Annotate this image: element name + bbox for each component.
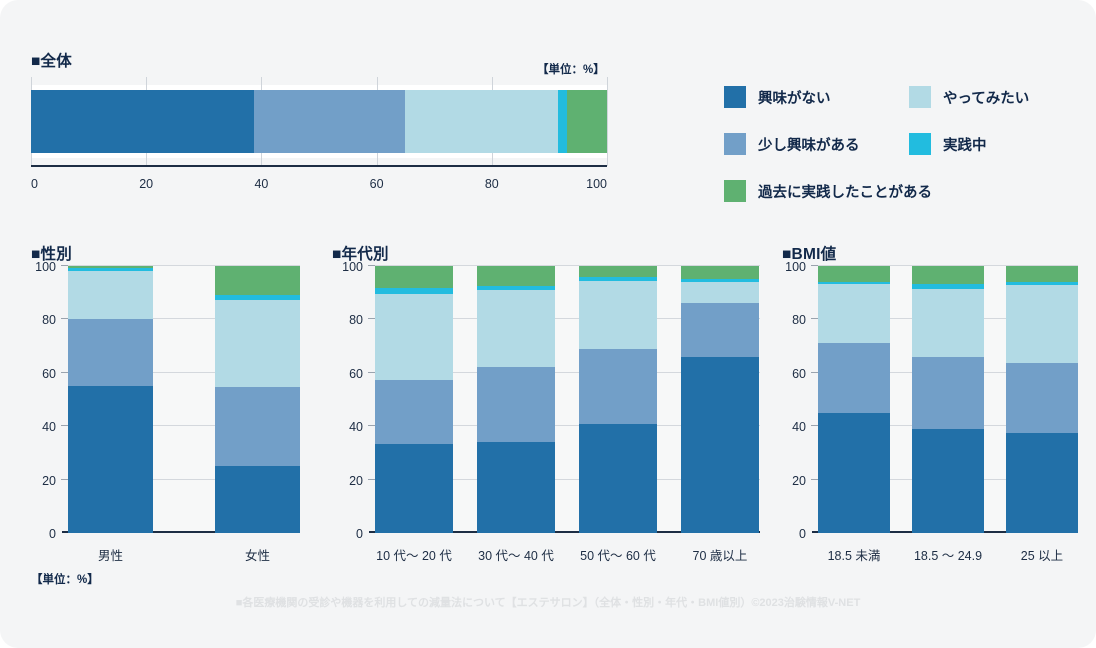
- y-tick-mark: [811, 425, 818, 426]
- x-category-label: 18.5 〜 24.9: [912, 545, 984, 564]
- footer-caption: ■各医療機関の受診や機器を利用しての減量法について【エステサロン】（全体・性別・…: [0, 594, 1096, 610]
- column-segment: [681, 357, 759, 533]
- overall-bar-segment: [405, 90, 558, 153]
- overall-plot-area: [31, 85, 607, 158]
- column-bar: [912, 266, 984, 533]
- overall-bar-segment: [254, 90, 405, 153]
- y-tick-label: 80: [792, 313, 806, 327]
- y-tick-label: 0: [49, 527, 56, 541]
- chart-age: 10080604020010 代〜 20 代30 代〜 40 代50 代〜 60…: [375, 266, 760, 533]
- x-category-label: 10 代〜 20 代: [375, 545, 453, 564]
- column-segment: [68, 319, 153, 387]
- y-tick-label: 80: [42, 313, 56, 327]
- y-tick-label: 100: [342, 260, 363, 274]
- y-tick-mark: [61, 479, 68, 480]
- unit-label-gender: 【単位：%】: [31, 571, 99, 587]
- y-tick-mark: [811, 372, 818, 373]
- y-tick-label: 0: [799, 527, 806, 541]
- column-bar: [375, 266, 453, 533]
- column-segment: [1006, 363, 1078, 433]
- overall-x-tick: 0: [31, 177, 38, 191]
- x-category-label: 25 以上: [1006, 545, 1078, 564]
- column-segment: [477, 266, 555, 285]
- y-tick-mark: [368, 372, 375, 373]
- overall-x-tick: 40: [254, 177, 268, 191]
- y-tick-mark: [368, 318, 375, 319]
- y-tick-label: 40: [792, 420, 806, 434]
- y-tick-mark: [61, 318, 68, 319]
- column-segment: [818, 413, 890, 533]
- column-segment: [215, 387, 300, 466]
- overall-bar-segment: [31, 90, 254, 153]
- column-segment: [375, 380, 453, 444]
- legend-label: 興味がない: [758, 87, 831, 108]
- legend-label: 実践中: [943, 134, 987, 155]
- legend-item: 実践中: [909, 133, 987, 155]
- legend-item: 興味がない: [724, 86, 831, 108]
- column-segment: [912, 266, 984, 284]
- legend-swatch-icon: [909, 133, 931, 155]
- y-tick-mark: [61, 265, 68, 266]
- column-segment: [818, 343, 890, 412]
- column-segment: [68, 386, 153, 533]
- unit-label-overall: 【単位：%】: [537, 61, 605, 77]
- column-segment: [215, 300, 300, 387]
- legend: 興味がないやってみたい少し興味がある実践中過去に実践したことがある: [724, 86, 1064, 211]
- column-segment: [818, 284, 890, 344]
- overall-bar-segment: [558, 90, 567, 153]
- plot-area: 10080604020018.5 未満18.5 〜 24.925 以上: [818, 266, 1078, 533]
- column-segment: [68, 271, 153, 319]
- column-segment: [912, 429, 984, 533]
- legend-swatch-icon: [724, 180, 746, 202]
- y-tick-label: 20: [42, 474, 56, 488]
- overall-x-tick: 80: [485, 177, 499, 191]
- column-segment: [215, 266, 300, 295]
- overall-axis-line: [31, 165, 607, 167]
- column-segment: [215, 466, 300, 533]
- overall-stacked-bar: [31, 90, 607, 153]
- x-category-label: 50 代〜 60 代: [579, 545, 657, 564]
- column-segment: [912, 357, 984, 429]
- column-bar: [818, 266, 890, 533]
- column-segment: [477, 290, 555, 367]
- y-tick-mark: [368, 425, 375, 426]
- column-segment: [579, 281, 657, 349]
- column-segment: [477, 442, 555, 533]
- column-segment: [1006, 266, 1078, 281]
- y-tick-label: 60: [792, 367, 806, 381]
- overall-bar-segment: [567, 90, 607, 153]
- column-segment: [1006, 433, 1078, 533]
- plot-area: 10080604020010 代〜 20 代30 代〜 40 代50 代〜 60…: [375, 266, 760, 533]
- legend-label: 少し興味がある: [758, 134, 860, 155]
- column-segment: [477, 367, 555, 442]
- legend-swatch-icon: [724, 133, 746, 155]
- overall-x-tick: 60: [370, 177, 384, 191]
- y-tick-label: 40: [349, 420, 363, 434]
- column-bar: [477, 266, 555, 533]
- column-segment: [375, 444, 453, 533]
- y-tick-label: 100: [785, 260, 806, 274]
- panel-title-overall: ■全体: [31, 49, 72, 71]
- y-tick-label: 80: [349, 313, 363, 327]
- column-bar: [68, 266, 153, 533]
- y-tick-label: 60: [349, 367, 363, 381]
- y-tick-mark: [61, 425, 68, 426]
- x-category-label: 男性: [68, 545, 153, 564]
- column-segment: [818, 266, 890, 282]
- column-bar: [579, 266, 657, 533]
- y-tick-label: 20: [792, 474, 806, 488]
- legend-item: 過去に実践したことがある: [724, 180, 932, 202]
- legend-label: やってみたい: [943, 87, 1029, 108]
- legend-swatch-icon: [909, 86, 931, 108]
- column-segment: [375, 294, 453, 381]
- y-tick-mark: [811, 265, 818, 266]
- column-bar: [681, 266, 759, 533]
- column-segment: [579, 424, 657, 533]
- plot-area: 100806040200男性女性: [68, 266, 300, 533]
- legend-label: 過去に実践したことがある: [758, 181, 932, 202]
- overall-x-tick: 20: [139, 177, 153, 191]
- y-tick-mark: [811, 479, 818, 480]
- legend-item: 少し興味がある: [724, 133, 860, 155]
- column-segment: [912, 289, 984, 357]
- x-category-label: 30 代〜 40 代: [477, 545, 555, 564]
- column-segment: [681, 282, 759, 303]
- chart-gender: 100806040200男性女性: [68, 266, 300, 533]
- x-category-label: 18.5 未満: [818, 545, 890, 564]
- overall-gridline: [607, 77, 608, 166]
- y-tick-label: 20: [349, 474, 363, 488]
- y-tick-mark: [61, 372, 68, 373]
- x-category-label: 女性: [215, 545, 300, 564]
- y-tick-mark: [368, 479, 375, 480]
- y-tick-label: 100: [35, 260, 56, 274]
- legend-swatch-icon: [724, 86, 746, 108]
- y-tick-label: 0: [356, 527, 363, 541]
- y-tick-mark: [811, 318, 818, 319]
- column-bar: [1006, 266, 1078, 533]
- column-segment: [681, 303, 759, 356]
- column-segment: [1006, 285, 1078, 362]
- infographic-page: ■全体 【単位：%】 020406080100 興味がないやってみたい少し興味が…: [0, 0, 1096, 648]
- y-tick-mark: [368, 265, 375, 266]
- chart-bmi: 10080604020018.5 未満18.5 〜 24.925 以上: [818, 266, 1078, 533]
- legend-item: やってみたい: [909, 86, 1029, 108]
- y-tick-label: 40: [42, 420, 56, 434]
- y-tick-label: 60: [42, 367, 56, 381]
- column-bar: [215, 266, 300, 533]
- x-category-label: 70 歳以上: [681, 545, 759, 564]
- column-segment: [681, 266, 759, 279]
- column-segment: [579, 266, 657, 277]
- column-segment: [375, 266, 453, 288]
- column-segment: [579, 349, 657, 424]
- overall-x-tick: 100: [586, 177, 607, 191]
